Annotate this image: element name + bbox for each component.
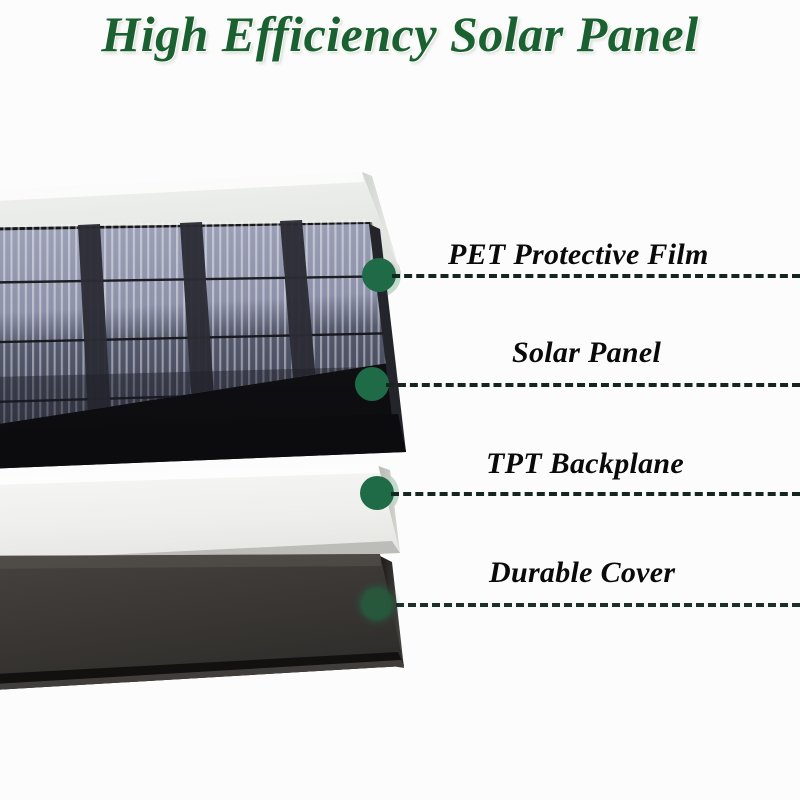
layer-solar-panel xyxy=(0,219,420,470)
leader-line-pet-protective-film xyxy=(392,274,800,278)
marker-dot-solar-panel[interactable] xyxy=(355,367,389,401)
marker-dot-durable-cover[interactable] xyxy=(360,587,394,621)
label-pet-protective-film: PET Protective Film xyxy=(448,238,709,272)
solar-panel-exploded-diagram xyxy=(0,0,800,800)
poster-canvas: High Efficiency Solar Panel xyxy=(0,0,800,800)
marker-dot-tpt-backplane[interactable] xyxy=(360,476,394,510)
label-durable-cover: Durable Cover xyxy=(489,556,675,590)
layer-durable-cover xyxy=(0,554,404,692)
leader-line-tpt-backplane xyxy=(391,492,800,496)
leader-line-solar-panel xyxy=(386,383,800,387)
marker-dot-pet-protective-film[interactable] xyxy=(362,258,396,292)
label-solar-panel: Solar Panel xyxy=(512,336,661,370)
leader-line-durable-cover xyxy=(396,603,800,607)
label-tpt-backplane: TPT Backplane xyxy=(486,447,684,481)
